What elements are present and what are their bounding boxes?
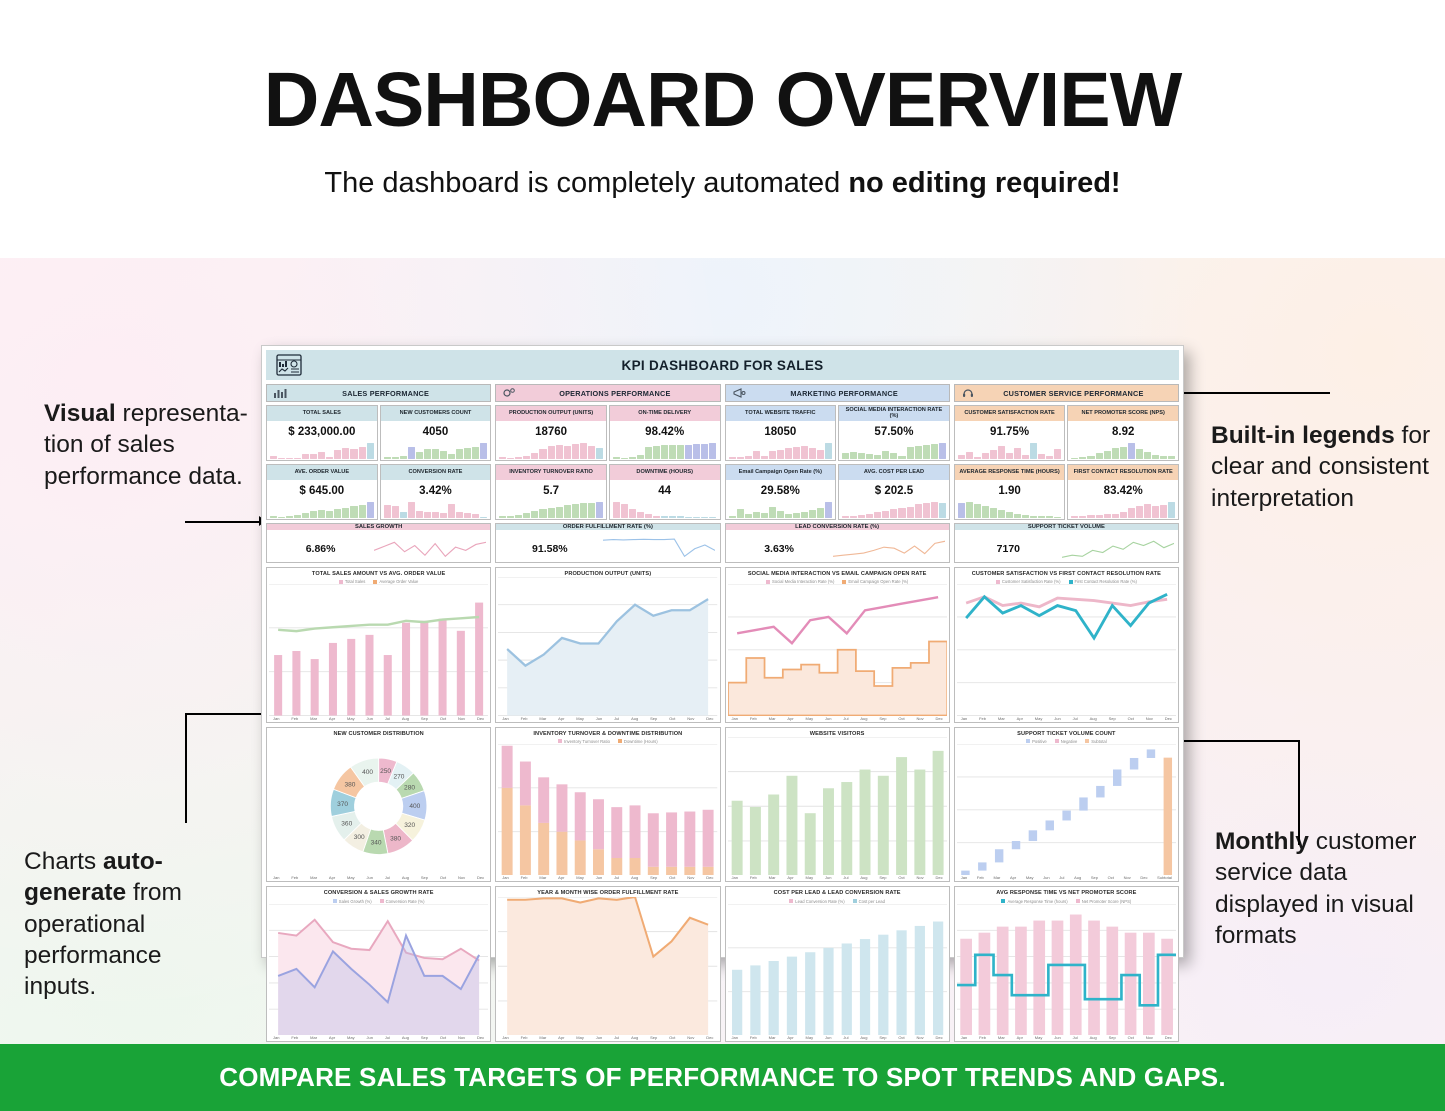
kpi-card-value: 18050	[726, 421, 836, 443]
x-tick-label: Jan	[273, 716, 279, 721]
chart-card[interactable]: SOCIAL MEDIA INTERACTION VS EMAIL CAMPAI…	[725, 567, 950, 723]
x-tick-label: Nov	[1146, 716, 1153, 721]
x-tick-label: Dec	[477, 1035, 484, 1040]
kpi-card[interactable]: DOWNTIME (HOURS)44	[609, 464, 721, 520]
kpi-card[interactable]: NET PROMOTER SCORE (NPS)8.92	[1067, 405, 1179, 461]
x-tick-label: Dec	[1140, 875, 1147, 880]
chart-plot-area	[269, 584, 488, 716]
x-tick-label: Jan	[273, 1035, 279, 1040]
kpi-card-value: 57.50%	[839, 421, 949, 443]
kpi-card[interactable]: TOTAL SALES$ 233,000.00	[266, 405, 378, 461]
x-tick-label: Nov	[458, 716, 465, 721]
x-tick-label: Mar	[310, 716, 317, 721]
note-tl-bold: Visual	[44, 400, 116, 427]
kpi-strip-sparkline	[374, 530, 490, 563]
x-tick-label: Mar	[310, 1035, 317, 1040]
legend-swatch	[333, 899, 337, 903]
x-tick-label: Jun	[825, 875, 831, 880]
kpi-group: AVERAGE RESPONSE TIME (HOURS)1.90FIRST C…	[954, 464, 1179, 520]
chart-card[interactable]: INVENTORY TURNOVER & DOWNTIME DISTRIBUTI…	[495, 727, 720, 883]
kpi-card-label: CUSTOMER SATISFACTION RATE	[955, 406, 1065, 421]
x-tick-label: Apr	[1017, 716, 1023, 721]
x-tick-label: Sep	[879, 716, 886, 721]
pillar-operations-label: OPERATIONS PERFORMANCE	[516, 389, 713, 398]
kpi-card[interactable]: AVE. ORDER VALUE$ 645.00	[266, 464, 378, 520]
kpi-strip-sparkline	[603, 530, 719, 563]
x-tick-label: Oct	[1128, 1035, 1134, 1040]
x-tick-label: Dec	[706, 716, 713, 721]
x-tick-label: Jan	[502, 1035, 508, 1040]
legend-swatch	[766, 580, 770, 584]
x-tick-label: Sep	[421, 1035, 428, 1040]
x-tick-label: Jun	[596, 716, 602, 721]
kpi-sparkline	[955, 502, 1065, 519]
note-visual-representation: Visual representa-tion of sales performa…	[44, 398, 249, 492]
chart-x-axis-labels: JanFebMarAprMayJunJulAugSepOctNovDecSubt…	[957, 875, 1176, 880]
svg-text:360: 360	[341, 820, 352, 827]
x-tick-label: Apr	[329, 875, 335, 880]
x-tick-label: Feb	[291, 875, 298, 880]
chart-card[interactable]: WEBSITE VISITORSJanFebMarAprMayJunJulAug…	[725, 727, 950, 883]
x-tick-label: Mar	[539, 1035, 546, 1040]
kpi-card-label: NEW CUSTOMERS COUNT	[381, 406, 491, 421]
chart-plot-area	[728, 737, 947, 876]
svg-text:370: 370	[337, 801, 348, 808]
x-tick-label: Jan	[502, 716, 508, 721]
subtitle-bold: no editing required!	[848, 167, 1120, 199]
chart-title: INVENTORY TURNOVER & DOWNTIME DISTRIBUTI…	[498, 731, 717, 737]
kpi-sparkline	[1068, 443, 1178, 460]
kpi-card[interactable]: INVENTORY TURNOVER RATIO5.7	[495, 464, 607, 520]
x-tick-label: Oct	[440, 1035, 446, 1040]
note-monthly-customer-service: Monthly customer service data displayed …	[1215, 826, 1440, 951]
x-tick-label: Dec	[936, 716, 943, 721]
x-tick-label: Nov	[1124, 875, 1131, 880]
kpi-sparkline	[267, 443, 377, 460]
kpi-sparkline	[381, 443, 491, 460]
kpi-card[interactable]: AVERAGE RESPONSE TIME (HOURS)1.90	[954, 464, 1066, 520]
x-tick-label: Dec	[477, 716, 484, 721]
kpi-card-label: DOWNTIME (HOURS)	[610, 465, 720, 480]
x-tick-label: Aug	[631, 875, 638, 880]
x-tick-label: Aug	[402, 716, 409, 721]
x-tick-label: Sep	[1109, 716, 1116, 721]
headset-icon	[961, 387, 975, 399]
chart-plot-area	[498, 744, 717, 876]
chart-plot-area: 250270280400320380340300360370380400	[269, 737, 488, 876]
kpi-strip-body: 3.63%	[726, 530, 949, 563]
svg-text:270: 270	[393, 773, 404, 780]
kpi-card-label: INVENTORY TURNOVER RATIO	[496, 465, 606, 480]
legend-swatch	[1069, 580, 1073, 584]
x-tick-label: May	[347, 1035, 355, 1040]
chart-plot-area	[957, 584, 1176, 716]
chart-x-axis-labels: JanFebMarAprMayJunJulAugSepOctNovDec	[957, 1035, 1176, 1040]
x-tick-label: Mar	[993, 875, 1000, 880]
x-tick-label: Jan	[961, 716, 967, 721]
chart-plot-area	[728, 904, 947, 1036]
kpi-strip-value: 3.63%	[726, 543, 833, 555]
kpi-strip-value: 91.58%	[496, 543, 603, 555]
x-tick-label: May	[1035, 716, 1043, 721]
x-tick-label: Jan	[502, 875, 508, 880]
x-tick-label: Jun	[1054, 716, 1060, 721]
kpi-card-value: $ 233,000.00	[267, 421, 377, 443]
x-tick-label: Mar	[539, 875, 546, 880]
chart-grid: TOTAL SALES AMOUNT VS AVG. ORDER VALUETo…	[266, 567, 1179, 1042]
note-charts-autogenerate: Charts auto-generate from operational pe…	[24, 846, 239, 1003]
x-tick-label: Sep	[650, 1035, 657, 1040]
chart-card[interactable]: YEAR & MONTH WISE ORDER FULFILLMENT RATE…	[495, 886, 720, 1042]
x-tick-label: Apr	[558, 716, 564, 721]
x-tick-label: Jul	[385, 1035, 390, 1040]
x-tick-label: Jan	[732, 1035, 738, 1040]
x-tick-label: Feb	[291, 716, 298, 721]
kpi-group: TOTAL SALES$ 233,000.00NEW CUSTOMERS COU…	[266, 405, 491, 461]
pillar-operations-performance[interactable]: OPERATIONS PERFORMANCE	[495, 384, 720, 402]
svg-text:250: 250	[380, 768, 391, 775]
x-tick-label: Feb	[521, 716, 528, 721]
x-tick-label: Aug	[860, 1035, 867, 1040]
x-tick-label: Apr	[787, 1035, 793, 1040]
dashboard-sheet[interactable]: KPI DASHBOARD FOR SALES SALES PERFORMANC…	[261, 345, 1184, 958]
kpi-group: PRODUCTION OUTPUT (UNITS)18760ON-TIME DE…	[495, 405, 720, 461]
legend-swatch	[789, 899, 793, 903]
x-tick-label: Nov	[458, 875, 465, 880]
x-tick-label: May	[806, 875, 814, 880]
kpi-card-value: 29.58%	[726, 480, 836, 502]
dashboard-title-bar: KPI DASHBOARD FOR SALES	[266, 350, 1179, 380]
x-tick-label: Oct	[1108, 875, 1114, 880]
kpi-sparkline	[726, 443, 836, 460]
kpi-card[interactable]: Email Campaign Open Rate (%)29.58%	[725, 464, 837, 520]
leader-line-bottom-left-v	[185, 713, 187, 823]
kpi-card-value: 83.42%	[1068, 480, 1178, 502]
x-tick-label: Mar	[310, 875, 317, 880]
kpi-card-label: SOCIAL MEDIA INTERACTION RATE (%)	[839, 406, 949, 421]
legend-swatch	[1085, 739, 1089, 743]
chart-x-axis-labels: JanFebMarAprMayJunJulAugSepOctNovDec	[728, 1035, 947, 1040]
x-tick-label: Apr	[558, 875, 564, 880]
x-tick-label: Oct	[898, 875, 904, 880]
chart-card[interactable]: SUPPORT TICKET VOLUME COUNTPositiveNegat…	[954, 727, 1179, 883]
svg-text:400: 400	[409, 803, 420, 810]
x-tick-label: Oct	[669, 1035, 675, 1040]
x-tick-label: Subtotal	[1157, 875, 1172, 880]
x-tick-label: Sep	[1091, 875, 1098, 880]
x-tick-label: Feb	[521, 1035, 528, 1040]
kpi-sparkline	[726, 502, 836, 519]
x-tick-label: Dec	[477, 875, 484, 880]
kpi-card[interactable]: SOCIAL MEDIA INTERACTION RATE (%)57.50%	[838, 405, 950, 461]
x-tick-label: Oct	[898, 716, 904, 721]
svg-text:340: 340	[371, 839, 382, 846]
x-tick-label: May	[1026, 875, 1034, 880]
kpi-sparkline	[839, 443, 949, 460]
x-tick-label: Dec	[1165, 716, 1172, 721]
legend-swatch	[1055, 739, 1059, 743]
x-tick-label: Jun	[367, 716, 373, 721]
x-tick-label: Mar	[769, 875, 776, 880]
kpi-card[interactable]: CONVERSION RATE3.42%	[380, 464, 492, 520]
kpi-row: AVE. ORDER VALUE$ 645.00CONVERSION RATE3…	[266, 464, 1179, 520]
x-tick-label: Oct	[1128, 716, 1134, 721]
x-tick-label: Feb	[977, 875, 984, 880]
pillar-marketing-performance[interactable]: MARKETING PERFORMANCE	[725, 384, 950, 402]
pillar-customer-service-performance[interactable]: CUSTOMER SERVICE PERFORMANCE	[954, 384, 1179, 402]
x-tick-label: Sep	[879, 875, 886, 880]
x-tick-label: Oct	[898, 1035, 904, 1040]
chart-card[interactable]: AVG RESPONSE TIME VS NET PROMOTER SCOREA…	[954, 886, 1179, 1042]
x-tick-label: Mar	[998, 1035, 1005, 1040]
legend-swatch	[373, 580, 377, 584]
x-tick-label: Feb	[750, 716, 757, 721]
pillar-customer-service-label: CUSTOMER SERVICE PERFORMANCE	[975, 389, 1172, 398]
kpi-card-label: TOTAL WEBSITE TRAFFIC	[726, 406, 836, 421]
x-tick-label: Feb	[750, 1035, 757, 1040]
x-tick-label: Jan	[732, 716, 738, 721]
chart-title: CUSTOMER SATISFACTION VS FIRST CONTACT R…	[957, 571, 1176, 577]
legend-swatch	[558, 739, 562, 743]
gears-icon	[502, 387, 516, 399]
x-tick-label: Jul	[385, 875, 390, 880]
x-tick-label: May	[1035, 1035, 1043, 1040]
x-tick-label: Jul	[614, 1035, 619, 1040]
kpi-card[interactable]: ON-TIME DELIVERY98.42%	[609, 405, 721, 461]
x-tick-label: Jul	[843, 716, 848, 721]
kpi-card-label: AVG. COST PER LEAD	[839, 465, 949, 480]
chart-card[interactable]: TOTAL SALES AMOUNT VS AVG. ORDER VALUETo…	[266, 567, 491, 723]
x-tick-label: Oct	[440, 716, 446, 721]
kpi-rows-container: TOTAL SALES$ 233,000.00NEW CUSTOMERS COU…	[266, 402, 1179, 520]
x-tick-label: Aug	[1090, 716, 1097, 721]
legend-swatch	[339, 580, 343, 584]
kpi-card-label: AVERAGE RESPONSE TIME (HOURS)	[955, 465, 1065, 480]
chart-title: AVG RESPONSE TIME VS NET PROMOTER SCORE	[957, 890, 1176, 896]
chart-x-axis-labels: JanFebMarAprMayJunJulAugSepOctNovDec	[498, 716, 717, 721]
chart-plot-area	[498, 577, 717, 716]
x-tick-label: May	[806, 716, 814, 721]
x-tick-label: Sep	[650, 716, 657, 721]
kpi-card[interactable]: AVG. COST PER LEAD$ 202.5	[838, 464, 950, 520]
x-tick-label: Oct	[669, 875, 675, 880]
x-tick-label: Jun	[367, 1035, 373, 1040]
x-tick-label: Mar	[769, 716, 776, 721]
kpi-sparkline	[496, 443, 606, 460]
x-tick-label: Nov	[917, 716, 924, 721]
legend-swatch	[1076, 899, 1080, 903]
kpi-group: Email Campaign Open Rate (%)29.58%AVG. C…	[725, 464, 950, 520]
chart-title: SUPPORT TICKET VOLUME COUNT	[957, 731, 1176, 737]
kpi-card-value: 8.92	[1068, 421, 1178, 443]
legend-swatch	[618, 739, 622, 743]
kpi-card-label: CONVERSION RATE	[381, 465, 491, 480]
chart-x-axis-labels: JanFebMarAprMayJunJulAugSepOctNovDec	[498, 1035, 717, 1040]
svg-text:320: 320	[404, 822, 415, 829]
x-tick-label: Apr	[329, 1035, 335, 1040]
svg-text:380: 380	[390, 835, 401, 842]
kpi-sparkline	[267, 502, 377, 519]
x-tick-label: Aug	[402, 875, 409, 880]
svg-text:280: 280	[404, 784, 415, 791]
chart-x-axis-labels: JanFebMarAprMayJunJulAugSepOctNovDec	[269, 1035, 488, 1040]
legend-swatch	[853, 899, 857, 903]
x-tick-label: Jan	[961, 875, 967, 880]
kpi-card-value: $ 645.00	[267, 480, 377, 502]
note-tr-bold: Built-in legends	[1211, 422, 1395, 449]
kpi-card-value: 1.90	[955, 480, 1065, 502]
x-tick-label: Nov	[1146, 1035, 1153, 1040]
x-tick-label: Jul	[1073, 1035, 1078, 1040]
x-tick-label: Jun	[825, 1035, 831, 1040]
kpi-card[interactable]: CUSTOMER SATISFACTION RATE91.75%	[954, 405, 1066, 461]
chart-x-axis-labels: JanFebMarAprMayJunJulAugSepOctNovDec	[498, 875, 717, 880]
x-tick-label: Dec	[1165, 1035, 1172, 1040]
dashboard-title: KPI DASHBOARD FOR SALES	[302, 358, 1143, 373]
chart-card[interactable]: NEW CUSTOMER DISTRIBUTION250270280400320…	[266, 727, 491, 883]
x-tick-label: Mar	[998, 716, 1005, 721]
x-tick-label: Nov	[687, 716, 694, 721]
kpi-card[interactable]: TOTAL WEBSITE TRAFFIC18050	[725, 405, 837, 461]
chart-x-axis-labels: JanFebMarAprMayJunJulAugSepOctNovDec	[728, 716, 947, 721]
pillar-marketing-label: MARKETING PERFORMANCE	[746, 389, 943, 398]
kpi-strip-body: 91.58%	[496, 530, 719, 563]
x-tick-label: Aug	[402, 1035, 409, 1040]
page-header: DASHBOARD OVERVIEW The dashboard is comp…	[0, 0, 1445, 258]
kpi-card[interactable]: PRODUCTION OUTPUT (UNITS)18760	[495, 405, 607, 461]
x-tick-label: Nov	[917, 1035, 924, 1040]
x-tick-label: Mar	[769, 1035, 776, 1040]
kpi-strip-value: 7170	[955, 543, 1062, 555]
x-tick-label: Nov	[687, 875, 694, 880]
chart-plot-area	[269, 904, 488, 1036]
page-title: DASHBOARD OVERVIEW	[0, 0, 1445, 139]
svg-text:300: 300	[354, 834, 365, 841]
kpi-strip[interactable]: SUPPORT TICKET VOLUME7170	[954, 523, 1179, 563]
x-tick-label: Jul	[1059, 875, 1064, 880]
x-tick-label: Feb	[979, 1035, 986, 1040]
leader-line-top-right-h	[1170, 392, 1330, 394]
kpi-strip[interactable]: LEAD CONVERSION RATE (%)3.63%	[725, 523, 950, 563]
x-tick-label: Sep	[879, 1035, 886, 1040]
x-tick-label: Jul	[385, 716, 390, 721]
x-tick-label: Dec	[706, 875, 713, 880]
legend-swatch	[1001, 899, 1005, 903]
svg-text:380: 380	[344, 781, 355, 788]
x-tick-label: Feb	[291, 1035, 298, 1040]
x-tick-label: May	[347, 875, 355, 880]
x-tick-label: Jun	[825, 716, 831, 721]
x-tick-label: Apr	[329, 716, 335, 721]
kpi-card-value: 91.75%	[955, 421, 1065, 443]
leader-line-top-left	[185, 521, 260, 523]
pillar-sales-performance[interactable]: SALES PERFORMANCE	[266, 384, 491, 402]
kpi-group: AVE. ORDER VALUE$ 645.00CONVERSION RATE3…	[266, 464, 491, 520]
chart-plot-area	[957, 744, 1176, 876]
footer-banner-text: COMPARE SALES TARGETS OF PERFORMANCE TO …	[219, 1062, 1226, 1093]
x-tick-label: Aug	[860, 716, 867, 721]
legend-swatch	[996, 580, 1000, 584]
kpi-card-value: 3.42%	[381, 480, 491, 502]
x-tick-label: Nov	[687, 1035, 694, 1040]
kpi-group: INVENTORY TURNOVER RATIO5.7DOWNTIME (HOU…	[495, 464, 720, 520]
x-tick-label: Sep	[650, 875, 657, 880]
legend-swatch	[842, 580, 846, 584]
kpi-card-label: PRODUCTION OUTPUT (UNITS)	[496, 406, 606, 421]
chart-x-axis-labels: JanFebMarAprMayJunJulAugSepOctNovDec	[269, 875, 488, 880]
kpi-sparkline	[496, 502, 606, 519]
legend-swatch	[1026, 739, 1030, 743]
x-tick-label: Mar	[539, 716, 546, 721]
chart-card[interactable]: PRODUCTION OUTPUT (UNITS)JanFebMarAprMay…	[495, 567, 720, 723]
pillar-sales-label: SALES PERFORMANCE	[287, 389, 484, 398]
leader-line-bottom-right-v	[1298, 740, 1300, 845]
chart-card[interactable]: CUSTOMER SATISFACTION VS FIRST CONTACT R…	[954, 567, 1179, 723]
kpi-card[interactable]: NEW CUSTOMERS COUNT4050	[380, 405, 492, 461]
kpi-card[interactable]: FIRST CONTACT RESOLUTION RATE83.42%	[1067, 464, 1179, 520]
kpi-card-label: AVE. ORDER VALUE	[267, 465, 377, 480]
x-tick-label: Apr	[787, 875, 793, 880]
x-tick-label: Aug	[1090, 1035, 1097, 1040]
x-tick-label: May	[576, 1035, 584, 1040]
kpi-card-label: Email Campaign Open Rate (%)	[726, 465, 836, 480]
kpi-group: CUSTOMER SATISFACTION RATE91.75%NET PROM…	[954, 405, 1179, 461]
x-tick-label: Aug	[1074, 875, 1081, 880]
x-tick-label: Jun	[596, 1035, 602, 1040]
megaphone-icon	[732, 387, 746, 399]
chart-plot-area	[498, 897, 717, 1036]
chart-title: CONVERSION & SALES GROWTH RATE	[269, 890, 488, 896]
kpi-card-value: 5.7	[496, 480, 606, 502]
kpi-card-label: TOTAL SALES	[267, 406, 377, 421]
x-tick-label: Apr	[558, 1035, 564, 1040]
kpi-sparkline	[839, 502, 949, 519]
kpi-strip-sparkline	[1062, 530, 1178, 563]
kpi-strip[interactable]: SALES GROWTH6.86%	[266, 523, 491, 563]
x-tick-label: Aug	[631, 1035, 638, 1040]
x-tick-label: Apr	[1017, 1035, 1023, 1040]
x-tick-label: Apr	[787, 716, 793, 721]
kpi-sparkline	[1068, 502, 1178, 519]
x-tick-label: Jul	[614, 875, 619, 880]
kpi-strip-row: SALES GROWTH6.86%ORDER FULFILLMENT RATE …	[266, 523, 1179, 563]
chart-plot-area	[957, 904, 1176, 1036]
pillar-header-row: SALES PERFORMANCE OPERATIONS PERFORMANCE…	[266, 384, 1179, 402]
note-br-bold: Monthly	[1215, 828, 1309, 855]
x-tick-label: Jul	[614, 716, 619, 721]
bar-chart-icon	[273, 387, 287, 399]
x-tick-label: Apr	[1010, 875, 1016, 880]
x-tick-label: Jan	[732, 875, 738, 880]
chart-card[interactable]: CONVERSION & SALES GROWTH RATESales Grow…	[266, 886, 491, 1042]
kpi-strip-body: 6.86%	[267, 530, 490, 563]
chart-plot-area	[728, 584, 947, 716]
kpi-card-label: NET PROMOTER SCORE (NPS)	[1068, 406, 1178, 421]
kpi-card-label: FIRST CONTACT RESOLUTION RATE	[1068, 465, 1178, 480]
x-tick-label: Jun	[1054, 1035, 1060, 1040]
kpi-card-value: $ 202.5	[839, 480, 949, 502]
kpi-strip-sparkline	[833, 530, 949, 563]
x-tick-label: Feb	[750, 875, 757, 880]
chart-card[interactable]: COST PER LEAD & LEAD CONVERSION RATELead…	[725, 886, 950, 1042]
kpi-strip[interactable]: ORDER FULFILLMENT RATE (%)91.58%	[495, 523, 720, 563]
legend-swatch	[380, 899, 384, 903]
x-tick-label: Nov	[917, 875, 924, 880]
x-tick-label: May	[347, 716, 355, 721]
subtitle-plain: The dashboard is completely automated	[324, 167, 848, 199]
x-tick-label: Sep	[421, 716, 428, 721]
x-tick-label: Aug	[860, 875, 867, 880]
